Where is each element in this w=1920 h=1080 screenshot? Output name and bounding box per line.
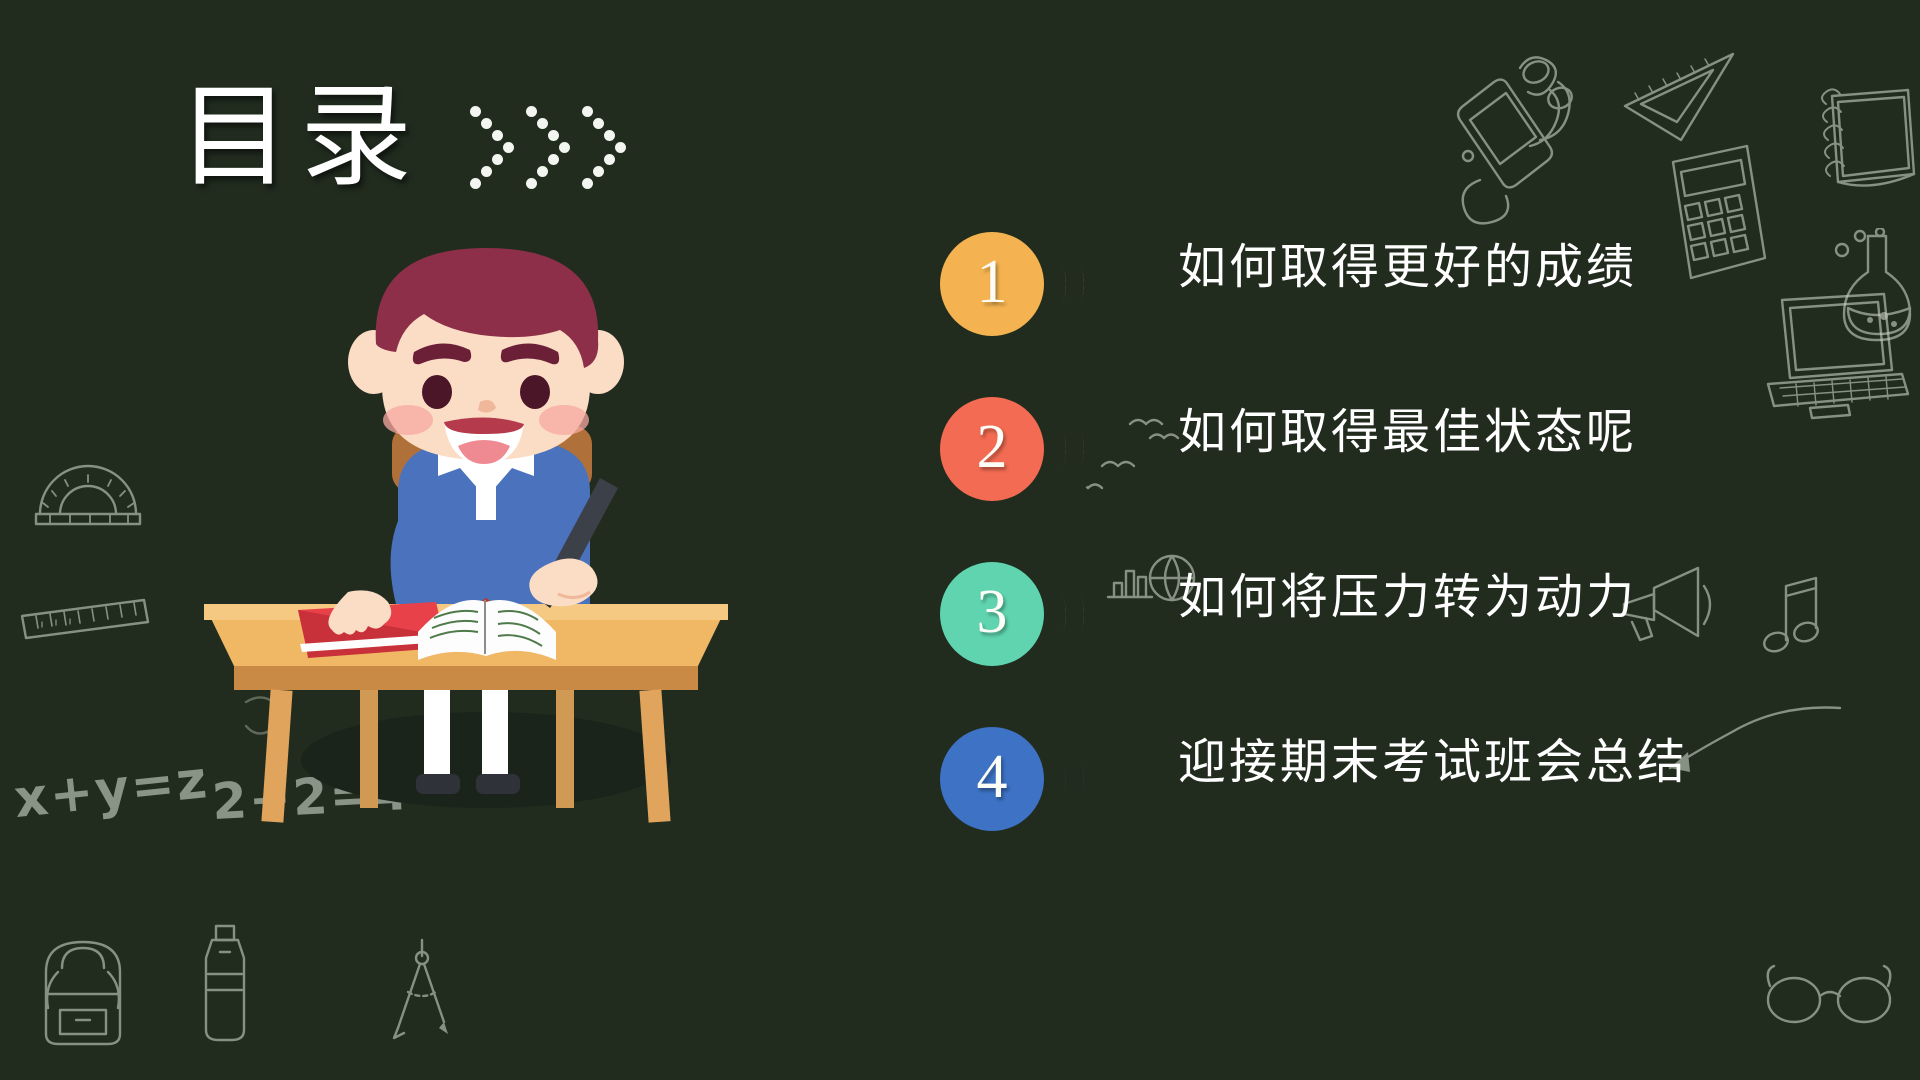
protractor-icon [28, 452, 148, 532]
compass-icon [382, 930, 462, 1040]
badge-disc: 1 [940, 232, 1044, 336]
triangle-ruler-icon [1615, 40, 1745, 160]
chevron-dot-group-2 [526, 106, 572, 184]
contents-item-2[interactable]: 2 如何取得最佳状态呢 [940, 397, 1870, 562]
page-title: 目录 [178, 82, 422, 194]
badge-number: 1 [977, 251, 1008, 313]
contents-item-1[interactable]: 1 如何取得更好的成绩 [940, 232, 1870, 397]
contents-item-label: 如何取得更好的成绩 [1178, 238, 1637, 298]
chevron-dot-group-3 [582, 106, 628, 184]
badge-4: 4 [940, 727, 1100, 831]
contents-item-label: 迎接期末考试班会总结 [1178, 733, 1688, 793]
contents-list: 1 如何取得更好的成绩 2 如何取得最佳状态呢 [940, 232, 1870, 892]
ruler-icon [16, 590, 156, 642]
contents-item-3[interactable]: 3 如何将压力转为动力 [940, 562, 1870, 727]
badge-disc: 2 [940, 397, 1044, 501]
badge-disc: 4 [940, 727, 1044, 831]
slide-root: x+y=z 2+2=4 [0, 0, 1920, 1080]
badge-number: 2 [977, 416, 1008, 478]
badge-1: 1 [940, 232, 1100, 336]
phone-earbuds-icon [1432, 38, 1602, 238]
badge-number: 3 [977, 581, 1008, 643]
title-block: 目录 [178, 82, 628, 194]
badge-number: 4 [977, 746, 1008, 808]
contents-item-label: 如何将压力转为动力 [1178, 568, 1637, 628]
contents-item-label: 如何取得最佳状态呢 [1178, 403, 1637, 463]
chevron-dot-group-1 [470, 106, 516, 184]
backpack-icon [28, 920, 138, 1050]
equation-xyz: x+y=z [11, 750, 211, 830]
spiral-notebook-icon [1810, 82, 1920, 202]
badge-2: 2 [940, 397, 1100, 501]
student-at-desk-illustration [186, 240, 746, 840]
glasses-icon [1760, 960, 1900, 1030]
badge-3: 3 [940, 562, 1100, 666]
badge-disc: 3 [940, 562, 1044, 666]
chevron-dots-decoration [470, 106, 628, 184]
contents-item-4[interactable]: 4 迎接期末考试班会总结 [940, 727, 1870, 892]
water-bottle-icon [190, 918, 260, 1046]
